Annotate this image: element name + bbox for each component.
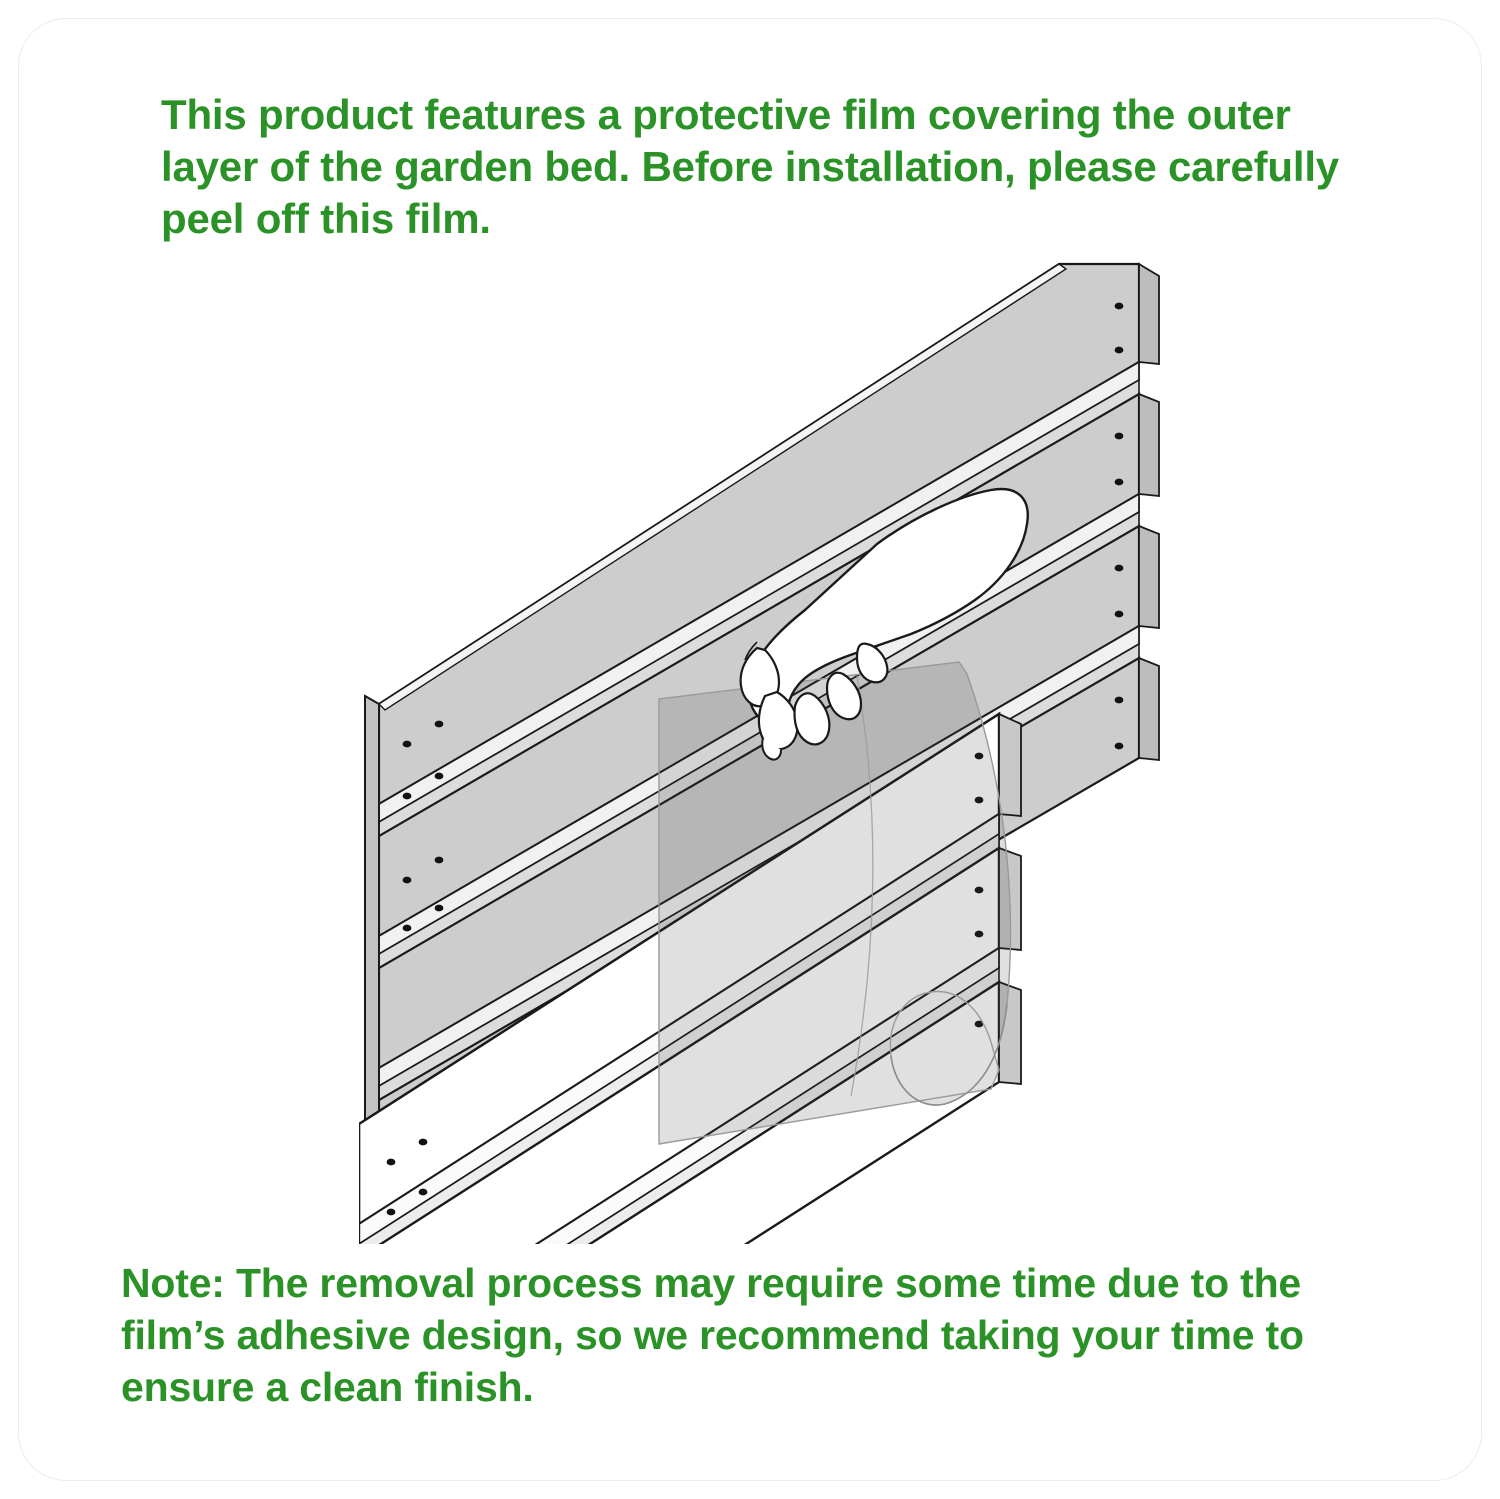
- protective-film: [659, 662, 1011, 1144]
- instruction-card: This product features a protective film …: [18, 18, 1482, 1481]
- garden-bed-film-removal-illustration: [359, 244, 1189, 1244]
- back-panel-right-step-1: [1139, 264, 1159, 364]
- back-panel-right-step-3: [1139, 526, 1159, 628]
- top-instruction-text: This product features a protective film …: [161, 89, 1376, 245]
- bottom-note-text: Note: The removal process may require so…: [121, 1257, 1411, 1413]
- back-panel-right-step-4: [1139, 658, 1159, 760]
- back-panel-right-step-2: [1139, 394, 1159, 496]
